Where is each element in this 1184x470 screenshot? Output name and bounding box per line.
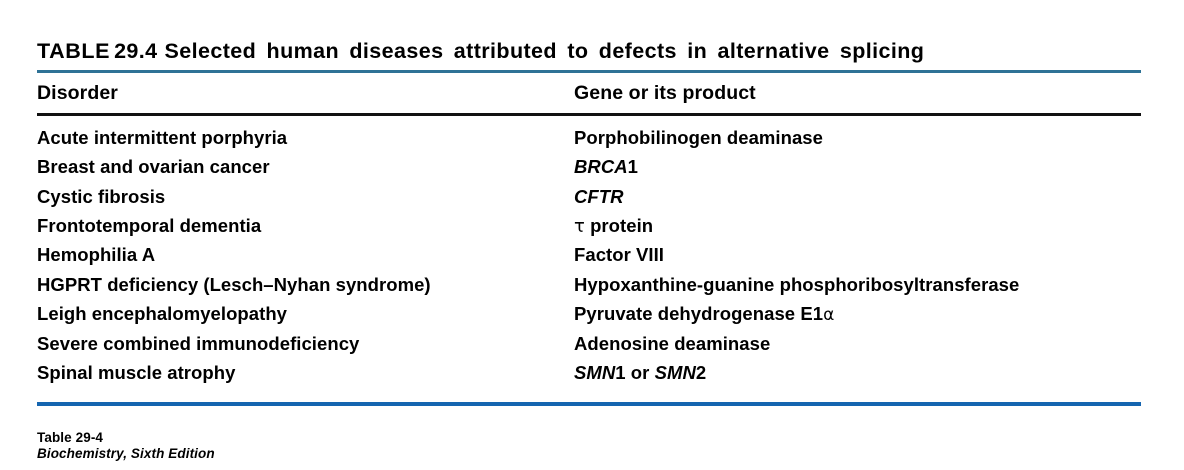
table-row: Cystic fibrosisCFTR [37,186,1141,215]
gene-text-fragment: Pyruvate dehydrogenase E1 [574,303,823,324]
cell-gene-or-product: Porphobilinogen deaminase [574,127,1141,149]
gene-text-fragment: Hypoxanthine-guanine phosphoribosyltrans… [574,274,1019,295]
gene-text-fragment: 1 [628,156,638,177]
table-row: Severe combined immunodeficiencyAdenosin… [37,333,1141,362]
cell-gene-or-product: τ protein [574,215,1141,237]
table-figure-page: TABLE29.4Selected human diseases attribu… [0,0,1184,470]
cell-gene-or-product: Hypoxanthine-guanine phosphoribosyltrans… [574,274,1141,296]
gene-text-fragment: CFTR [574,186,624,207]
cell-disorder: Cystic fibrosis [37,186,574,208]
cell-disorder: Leigh encephalomyelopathy [37,303,574,325]
gene-text-fragment: SMN [574,362,615,383]
table-title-text: Selected human diseases attributed to de… [165,39,925,63]
table-row: Frontotemporal dementiaτ protein [37,215,1141,244]
cell-disorder: Frontotemporal dementia [37,215,574,237]
caption-table-number: Table 29-4 [37,430,537,446]
figure-caption: Table 29-4 Biochemistry, Sixth Edition [37,430,537,462]
gene-text-fragment: τ [574,216,585,237]
column-header-gene: Gene or its product [574,82,1141,105]
table-row: Breast and ovarian cancerBRCA1 [37,156,1141,185]
table-row: HGPRT deficiency (Lesch–Nyhan syndrome)H… [37,274,1141,303]
rule-bottom [37,402,1141,406]
cell-disorder: Hemophilia A [37,244,574,266]
gene-text-fragment: protein [585,215,653,236]
table-row: Acute intermittent porphyriaPorphobilino… [37,127,1141,156]
table-block: TABLE29.4Selected human diseases attribu… [37,38,1141,406]
cell-disorder: Spinal muscle atrophy [37,362,574,384]
gene-text-fragment: SMN [655,362,696,383]
table-label: TABLE [37,39,110,63]
gene-text-fragment: BRCA [574,156,628,177]
cell-gene-or-product: CFTR [574,186,1141,208]
gene-text-fragment: 1 or [615,362,654,383]
cell-gene-or-product: BRCA1 [574,156,1141,178]
gene-text-fragment: Porphobilinogen deaminase [574,127,823,148]
caption-book-title: Biochemistry, Sixth Edition [37,446,537,462]
table-row: Hemophilia AFactor VIII [37,244,1141,273]
cell-disorder: Severe combined immunodeficiency [37,333,574,355]
cell-gene-or-product: Adenosine deaminase [574,333,1141,355]
table-row: Leigh encephalomyelopathyPyruvate dehydr… [37,303,1141,332]
column-header-disorder: Disorder [37,82,574,105]
cell-gene-or-product: Pyruvate dehydrogenase E1α [574,303,1141,325]
table-body: Acute intermittent porphyriaPorphobilino… [37,116,1141,403]
table-title: TABLE29.4Selected human diseases attribu… [37,38,1141,70]
cell-gene-or-product: SMN1 or SMN2 [574,362,1141,384]
cell-disorder: HGPRT deficiency (Lesch–Nyhan syndrome) [37,274,574,296]
table-row: Spinal muscle atrophySMN1 or SMN2 [37,362,1141,391]
gene-text-fragment: 2 [696,362,706,383]
table-header-row: Disorder Gene or its product [37,73,1141,113]
cell-disorder: Breast and ovarian cancer [37,156,574,178]
cell-disorder: Acute intermittent porphyria [37,127,574,149]
table-number: 29.4 [114,39,157,63]
gene-text-fragment: α [823,305,834,325]
gene-text-fragment: Factor VIII [574,244,664,265]
gene-text-fragment: Adenosine deaminase [574,333,770,354]
cell-gene-or-product: Factor VIII [574,244,1141,266]
